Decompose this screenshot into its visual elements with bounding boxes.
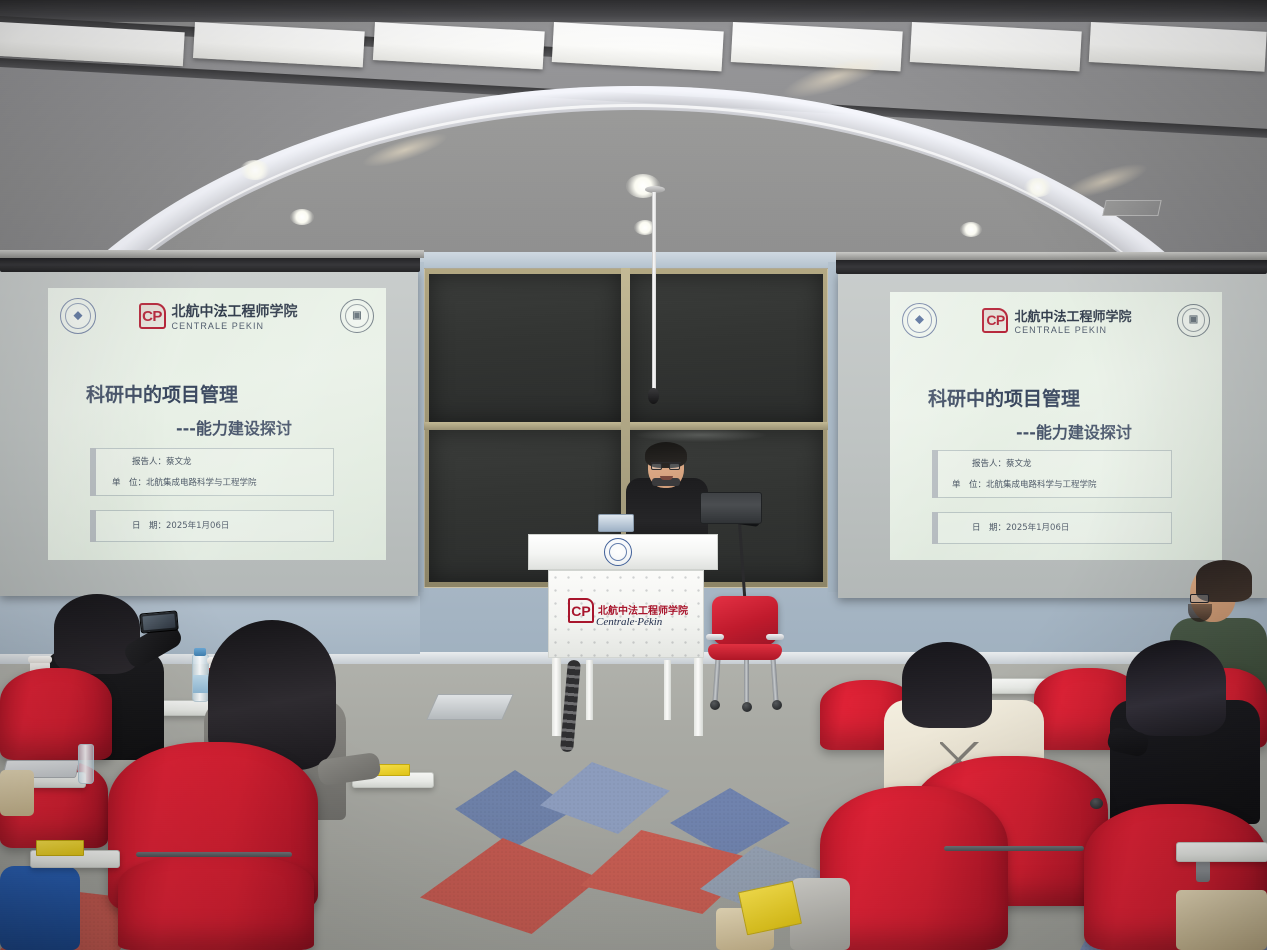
- downlight-5: [1024, 178, 1052, 197]
- attendee-cream-hair: [902, 642, 992, 728]
- podium-leg-left: [552, 654, 561, 736]
- left-slide: ◆ CP 北航中法工程师学院 CENTRALE PEKIN ▣ 科研中的项目管理…: [48, 288, 386, 560]
- affiliation-value: 北航集成电路科学与工程学院: [146, 478, 257, 488]
- university-seal-right-icon-right-slide: ▣: [1177, 304, 1210, 337]
- right-slide-title: 科研中的项目管理: [928, 384, 1080, 411]
- side-chair-caster-2: [772, 700, 782, 710]
- right-slide: ◆ CP 北航中法工程师学院 CENTRALE PEKIN ▣ 科研中的项目管理…: [890, 292, 1222, 560]
- right-slide-org-name-en: CENTRALE PEKIN: [1014, 325, 1131, 335]
- tablet-arm-right-2: [1196, 860, 1210, 882]
- left-slide-date-accent: [90, 510, 96, 542]
- ceiling-vent: [1102, 200, 1161, 216]
- side-chair-caster-3: [742, 702, 752, 712]
- podium-cp-logo-icon: CP: [568, 598, 594, 623]
- date-value-right: 2025年1月06日: [1006, 523, 1069, 533]
- centrale-pekin-logo-icon: CP: [139, 303, 166, 329]
- affiliation-value-right: 北航集成电路科学与工程学院: [986, 480, 1097, 490]
- phone-screen: [142, 614, 175, 631]
- attendee-photographer-hair: [54, 594, 140, 674]
- attendee-black-top-hair: [1126, 640, 1226, 736]
- chair-back-shell: [0, 668, 112, 760]
- left-slide-presenter: 报告人：蔡文龙: [132, 455, 192, 467]
- beige-bag-left: [0, 770, 34, 816]
- left-slide-subtitle: ---能力建设探讨: [176, 415, 292, 439]
- left-slide-presenter-accent: [90, 448, 96, 496]
- tablet-desk-right-2: [1176, 842, 1267, 862]
- university-seal-right-icon: ▣: [340, 299, 374, 333]
- chair-front-left: [0, 668, 112, 760]
- side-chair-leg-3: [744, 654, 749, 702]
- yellow-notebook-bottom-left: [36, 840, 84, 856]
- podium-leg-inner-right: [664, 660, 671, 720]
- presenter-label-right: 报告人：: [972, 459, 1006, 469]
- presenter-name: 蔡文龙: [166, 457, 192, 467]
- right-screen-housing: [836, 258, 1267, 274]
- right-slide-presenter: 报告人：蔡文龙: [972, 457, 1032, 469]
- right-slide-header: ◆ CP 北航中法工程师学院 CENTRALE PEKIN ▣: [902, 300, 1210, 340]
- side-chair-arm-left: [706, 634, 724, 640]
- date-label: 日 期：: [132, 521, 166, 531]
- university-seal-left-icon: ◆: [60, 298, 96, 334]
- affiliation-label-right: 单 位：: [952, 480, 986, 490]
- right-slide-subtitle: ---能力建设探讨: [1016, 419, 1132, 443]
- beige-coat-right: [1176, 890, 1267, 950]
- presenter-name-right: 蔡文龙: [1006, 459, 1032, 469]
- slide-org-name-cn: 北航中法工程师学院: [172, 301, 298, 321]
- podium-org-name-en: Centrale·Pékin: [596, 616, 662, 628]
- attendee-photographer-phone: [139, 610, 179, 633]
- ceiling-top-dark-band: [0, 0, 1267, 22]
- centrale-pekin-logo-icon-right-slide: CP: [982, 308, 1008, 333]
- podium-org-name-cn: 北航中法工程师学院: [598, 602, 688, 617]
- left-slide-presenter-box: [90, 448, 334, 496]
- speaker-smile: [660, 476, 673, 480]
- university-seal-left-icon-right-slide: ◆: [902, 303, 937, 338]
- presenter-label: 报告人：: [132, 457, 166, 467]
- right-slide-presenter-box: [932, 450, 1172, 498]
- downlight-6: [960, 222, 982, 237]
- downlight-2: [290, 209, 314, 225]
- water-bottle-2: [78, 744, 94, 784]
- chair-mid-left-lower: [118, 856, 314, 950]
- chair-mid-left-gap: [136, 852, 292, 857]
- podium-leg-inner-left: [586, 660, 593, 720]
- left-slide-affiliation: 单 位：北航集成电路科学与工程学院: [112, 476, 257, 488]
- right-slide-date-accent: [932, 512, 938, 544]
- microphone-head: [648, 388, 659, 404]
- attendee-bearded-glasses-icon: [1190, 594, 1209, 603]
- microphone-pole: [652, 192, 656, 390]
- left-screen-housing-cap: [0, 250, 424, 258]
- side-chair-seat: [708, 644, 782, 660]
- slide-org-name-en: CENTRALE PEKIN: [172, 321, 298, 331]
- right-slide-date: 日 期：2025年1月06日: [972, 521, 1069, 533]
- blackboard-panel-top-left: [429, 274, 621, 422]
- date-label-right: 日 期：: [972, 523, 1006, 533]
- presenter-monitor: [700, 492, 762, 524]
- bottle-cap-1: [194, 648, 206, 656]
- side-chair-arm-right: [766, 634, 784, 640]
- speaker-glasses-left-lens: [651, 463, 662, 470]
- speaker-glasses-right-lens: [669, 463, 680, 470]
- left-slide-header: ◆ CP 北航中法工程师学院 CENTRALE PEKIN ▣: [60, 296, 374, 336]
- podium-leg-right: [694, 654, 703, 736]
- right-slide-affiliation: 单 位：北航集成电路科学与工程学院: [952, 478, 1097, 490]
- right-slide-org-name-cn: 北航中法工程师学院: [1014, 306, 1131, 325]
- left-screen-housing: [0, 256, 420, 272]
- cup-lid-2: [28, 656, 52, 663]
- podium-laptop: [598, 514, 634, 532]
- left-slide-date: 日 期：2025年1月06日: [132, 519, 229, 531]
- chalk-residue: [636, 428, 766, 442]
- chair-mid-left-lower-shell: [118, 856, 314, 950]
- left-slide-title: 科研中的项目管理: [86, 380, 238, 407]
- chair-right-mid-gap: [944, 846, 1084, 851]
- affiliation-label: 单 位：: [112, 478, 146, 488]
- downlight-1: [240, 160, 270, 180]
- lecture-hall-photo: ◆ CP 北航中法工程师学院 CENTRALE PEKIN ▣ 科研中的项目管理…: [0, 0, 1267, 950]
- right-slide-presenter-accent: [932, 450, 938, 498]
- podium-university-seal-icon: [604, 538, 632, 566]
- blue-backpack: [0, 866, 80, 950]
- right-screen-housing-cap: [836, 252, 1267, 260]
- floor-whiteboard-panel: [426, 694, 514, 720]
- side-chair-caster-1: [710, 700, 720, 710]
- speaker-glasses-icon: [651, 462, 681, 463]
- date-value: 2025年1月06日: [166, 521, 229, 531]
